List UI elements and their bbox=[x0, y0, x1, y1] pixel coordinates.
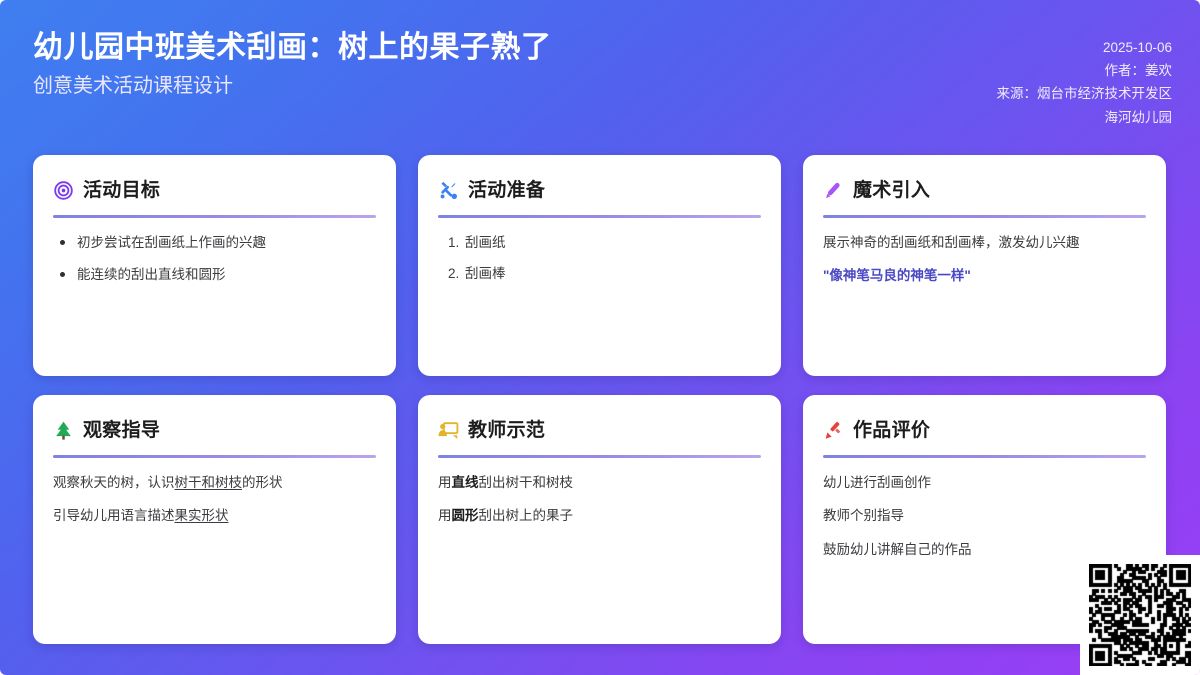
card-title: 作品评价 bbox=[853, 421, 930, 440]
card-header: 活动准备 bbox=[438, 177, 761, 204]
page-title: 幼儿园中班美术刮画：树上的果子熟了 bbox=[33, 28, 552, 67]
text-line: 展示神奇的刮画纸和刮画棒，激发幼儿兴趣 bbox=[823, 233, 1146, 253]
card-title: 观察指导 bbox=[83, 421, 160, 440]
card-body: 观察秋天的树，认识树干和树枝的形状引导幼儿用语言描述果实形状 bbox=[53, 473, 376, 527]
plain-text: 观察秋天的树，认识 bbox=[53, 475, 175, 490]
target-icon bbox=[53, 180, 74, 201]
numbered-list: 刮画纸刮画棒 bbox=[438, 233, 761, 285]
list-item: 刮画棒 bbox=[463, 264, 761, 284]
list-item: 能连续的刮出直线和圆形 bbox=[56, 265, 376, 285]
card-body: 用直线刮出树干和树枝用圆形刮出树上的果子 bbox=[438, 473, 761, 527]
text-line: 幼儿进行刮画创作 bbox=[823, 473, 1146, 493]
card-body: 幼儿进行刮画创作教师个别指导鼓励幼儿讲解自己的作品 bbox=[823, 473, 1146, 560]
plain-text: 的形状 bbox=[242, 475, 283, 490]
list-item: 初步尝试在刮画纸上作画的兴趣 bbox=[56, 233, 376, 253]
tree-icon bbox=[53, 420, 74, 441]
meta-author: 作者：姜欢 bbox=[997, 59, 1173, 82]
card-divider bbox=[438, 215, 761, 218]
list-item: 刮画纸 bbox=[463, 233, 761, 253]
card-body: 刮画纸刮画棒 bbox=[438, 233, 761, 285]
bullet-list: 初步尝试在刮画纸上作画的兴趣能连续的刮出直线和圆形 bbox=[53, 233, 376, 286]
header-meta: 2025-10-06 作者：姜欢 来源：烟台市经济技术开发区 海河幼儿园 bbox=[997, 36, 1173, 129]
meta-date: 2025-10-06 bbox=[997, 36, 1173, 59]
card-title: 活动目标 bbox=[83, 181, 160, 200]
pen-icon bbox=[823, 180, 844, 201]
qr-code-image bbox=[1089, 564, 1191, 666]
card-divider bbox=[53, 215, 376, 218]
card-body: 展示神奇的刮画纸和刮画棒，激发幼儿兴趣"像神笔马良的神笔一样" bbox=[823, 233, 1146, 287]
plain-text: 用 bbox=[438, 475, 452, 490]
meta-source-line2: 海河幼儿园 bbox=[997, 106, 1173, 129]
card-body: 初步尝试在刮画纸上作画的兴趣能连续的刮出直线和圆形 bbox=[53, 233, 376, 286]
meta-source-line1: 来源：烟台市经济技术开发区 bbox=[997, 82, 1173, 105]
card-title: 魔术引入 bbox=[853, 181, 930, 200]
card-divider bbox=[53, 455, 376, 458]
card-header: 教师示范 bbox=[438, 417, 761, 444]
plain-text: 用 bbox=[438, 508, 452, 523]
card-header: 作品评价 bbox=[823, 417, 1146, 444]
slide-canvas: 幼儿园中班美术刮画：树上的果子熟了 创意美术活动课程设计 2025-10-06 … bbox=[0, 0, 1200, 675]
text-line: 观察秋天的树，认识树干和树枝的形状 bbox=[53, 473, 376, 493]
plain-text: 引导幼儿用语言描述 bbox=[53, 508, 175, 523]
card-activity-preparation[interactable]: 活动准备刮画纸刮画棒 bbox=[418, 155, 781, 376]
underlined-phrase: 树干和树枝 bbox=[175, 475, 243, 490]
card-header: 活动目标 bbox=[53, 177, 376, 204]
plain-text: 刮出树干和树枝 bbox=[479, 475, 574, 490]
card-divider bbox=[438, 455, 761, 458]
text-line: 用圆形刮出树上的果子 bbox=[438, 506, 761, 526]
presenter-icon bbox=[438, 420, 459, 441]
card-activity-goals[interactable]: 活动目标初步尝试在刮画纸上作画的兴趣能连续的刮出直线和圆形 bbox=[33, 155, 396, 376]
tools-icon bbox=[438, 180, 459, 201]
bold-phrase: 直线 bbox=[452, 475, 479, 490]
card-title: 活动准备 bbox=[468, 181, 545, 200]
card-teacher-demonstration[interactable]: 教师示范用直线刮出树干和树枝用圆形刮出树上的果子 bbox=[418, 395, 781, 644]
card-divider bbox=[823, 455, 1146, 458]
paintbrush-icon bbox=[823, 420, 844, 441]
title-block: 幼儿园中班美术刮画：树上的果子熟了 创意美术活动课程设计 bbox=[33, 28, 552, 100]
card-magic-introduction[interactable]: 魔术引入展示神奇的刮画纸和刮画棒，激发幼儿兴趣"像神笔马良的神笔一样" bbox=[803, 155, 1166, 376]
card-title: 教师示范 bbox=[468, 421, 545, 440]
qr-code[interactable] bbox=[1080, 555, 1200, 675]
text-line: 引导幼儿用语言描述果实形状 bbox=[53, 506, 376, 526]
bold-phrase: 圆形 bbox=[452, 508, 479, 523]
card-grid: 活动目标初步尝试在刮画纸上作画的兴趣能连续的刮出直线和圆形活动准备刮画纸刮画棒魔… bbox=[33, 155, 1173, 644]
underlined-phrase: 果实形状 bbox=[175, 508, 229, 523]
page-subtitle: 创意美术活动课程设计 bbox=[33, 73, 552, 100]
card-divider bbox=[823, 215, 1146, 218]
quote-line: "像神笔马良的神笔一样" bbox=[823, 266, 1146, 286]
card-header: 魔术引入 bbox=[823, 177, 1146, 204]
card-observation-guidance[interactable]: 观察指导观察秋天的树，认识树干和树枝的形状引导幼儿用语言描述果实形状 bbox=[33, 395, 396, 644]
slide-header: 幼儿园中班美术刮画：树上的果子熟了 创意美术活动课程设计 2025-10-06 … bbox=[0, 0, 1200, 150]
text-line: 教师个别指导 bbox=[823, 506, 1146, 526]
card-header: 观察指导 bbox=[53, 417, 376, 444]
text-line: 用直线刮出树干和树枝 bbox=[438, 473, 761, 493]
plain-text: 刮出树上的果子 bbox=[479, 508, 574, 523]
